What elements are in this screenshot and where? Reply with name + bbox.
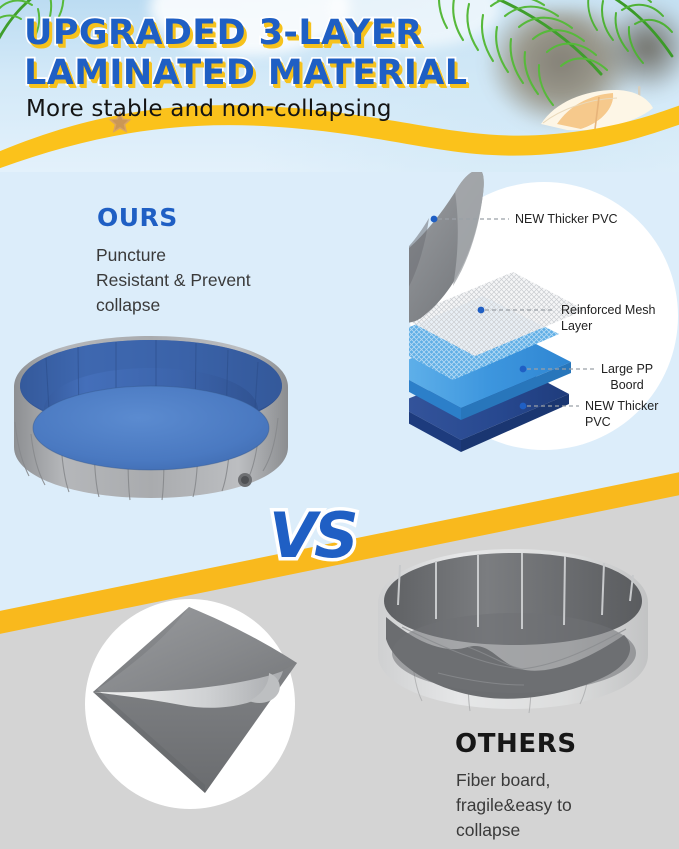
blue-foldable-pool-icon — [6, 330, 296, 515]
ours-description: Puncture Resistant & Prevent collapse — [96, 243, 306, 318]
peeling-fiber-board-detail — [83, 597, 298, 812]
layer-label-bottom-pvc: NEW Thicker PVC — [585, 399, 658, 430]
layer-label-top-pvc: NEW Thicker PVC — [515, 212, 618, 228]
layer-structure-diagram: NEW Thicker PVC Reinforced Mesh Layer La… — [409, 172, 679, 461]
grey-collapsing-pool-icon — [372, 543, 654, 733]
ours-heading: OURS — [97, 203, 178, 232]
hero-beach-scene: UPGRADED 3-LAYER LAMINATED MATERIAL — [0, 0, 679, 172]
page-subtitle: More stable and non-collapsing — [26, 96, 392, 122]
product-comparison-infographic: UPGRADED 3-LAYER LAMINATED MATERIAL More… — [0, 0, 679, 849]
page-title: UPGRADED 3-LAYER LAMINATED MATERIAL — [24, 14, 494, 94]
others-description: Fiber board, fragile&easy to collapse — [456, 768, 656, 843]
layer-label-mesh: Reinforced Mesh Layer — [561, 303, 656, 334]
layer-label-pp-board: Large PP Boord — [601, 362, 653, 393]
vs-badge: VS — [269, 499, 356, 572]
others-heading: OTHERS — [455, 729, 577, 759]
